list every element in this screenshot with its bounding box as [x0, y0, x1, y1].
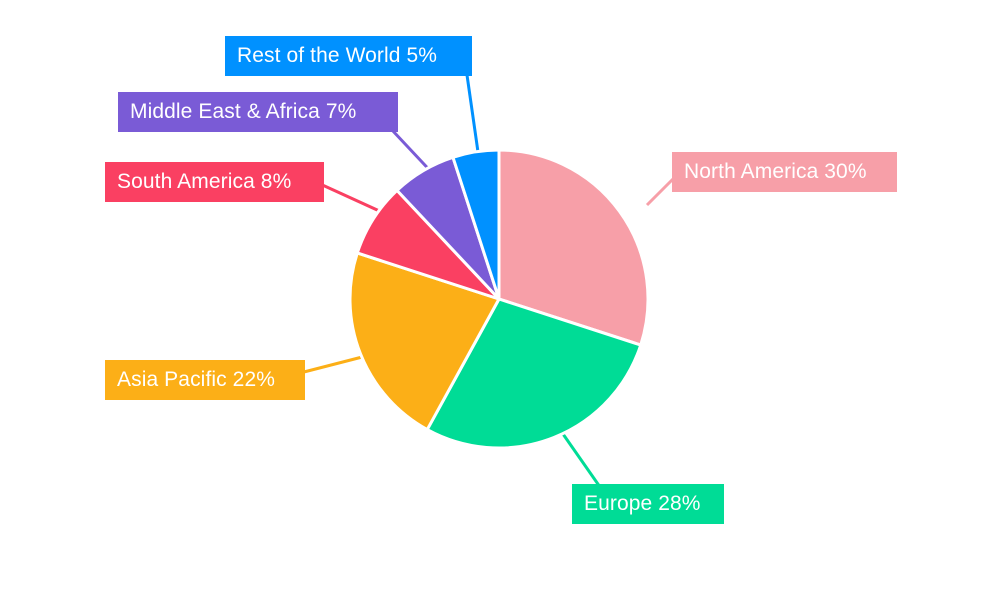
pie-label-north-america[interactable]: North America 30% — [672, 152, 897, 192]
pie-label-europe[interactable]: Europe 28% — [572, 484, 724, 524]
pie-label-rest-of-the-world[interactable]: Rest of the World 5% — [225, 36, 472, 76]
leader-line-rest-of-the-world — [467, 75, 478, 152]
leader-line-asia-pacific — [300, 355, 370, 373]
pie-label-south-america[interactable]: South America 8% — [105, 162, 324, 202]
leader-line-europe — [563, 434, 600, 487]
pie-slice-group — [350, 150, 648, 448]
pie-chart-svg — [0, 0, 1000, 600]
pie-chart-canvas: North America 30%Europe 28%Asia Pacific … — [0, 0, 1000, 600]
pie-label-middle-east-africa[interactable]: Middle East & Africa 7% — [118, 92, 398, 132]
pie-label-asia-pacific[interactable]: Asia Pacific 22% — [105, 360, 305, 400]
